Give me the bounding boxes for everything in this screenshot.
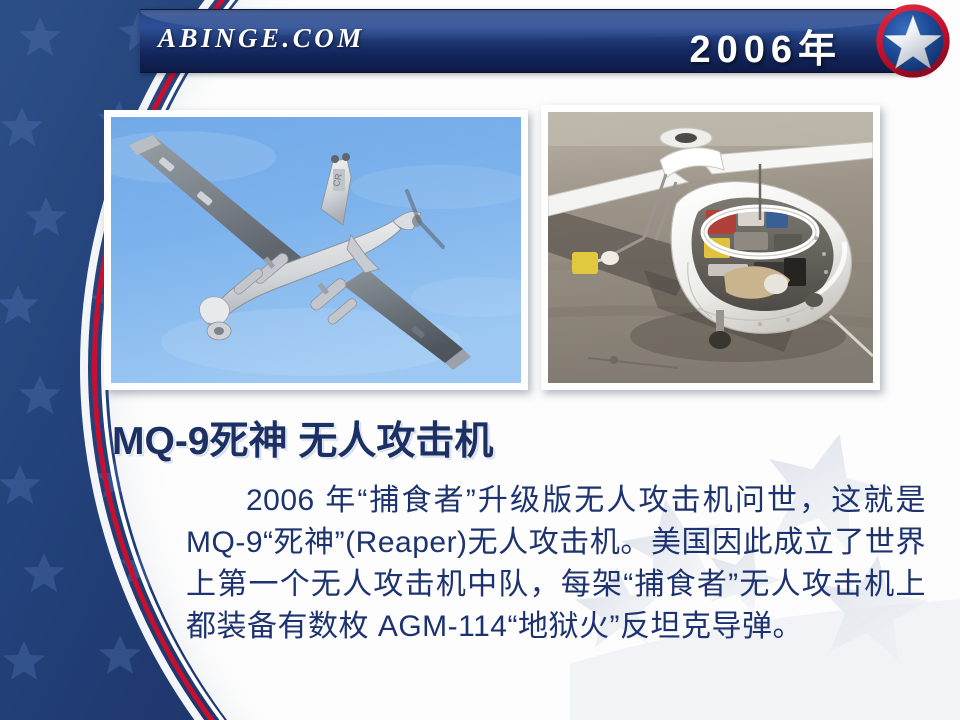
slide-canvas: ABINGE.COM 2006年 — [0, 0, 960, 720]
page-title: MQ-9死神 无人攻击机 — [112, 410, 493, 466]
mq9-in-flight-photo: CR — [104, 110, 528, 390]
brand-wordmark: ABINGE.COM — [158, 23, 365, 54]
star-shield-emblem — [874, 2, 952, 80]
drone-fuselage-illustration — [548, 112, 873, 383]
header-banner: ABINGE.COM 2006年 — [140, 9, 930, 73]
body-paragraph: 2006 年“捕食者”升级版无人攻击机问世，这就是 MQ-9“死神”(Reape… — [186, 480, 926, 648]
mq9-in-flight-illustration: CR — [111, 117, 521, 383]
drone-fuselage-maintenance-photo — [541, 105, 880, 390]
year-label: 2006年 — [689, 18, 842, 73]
